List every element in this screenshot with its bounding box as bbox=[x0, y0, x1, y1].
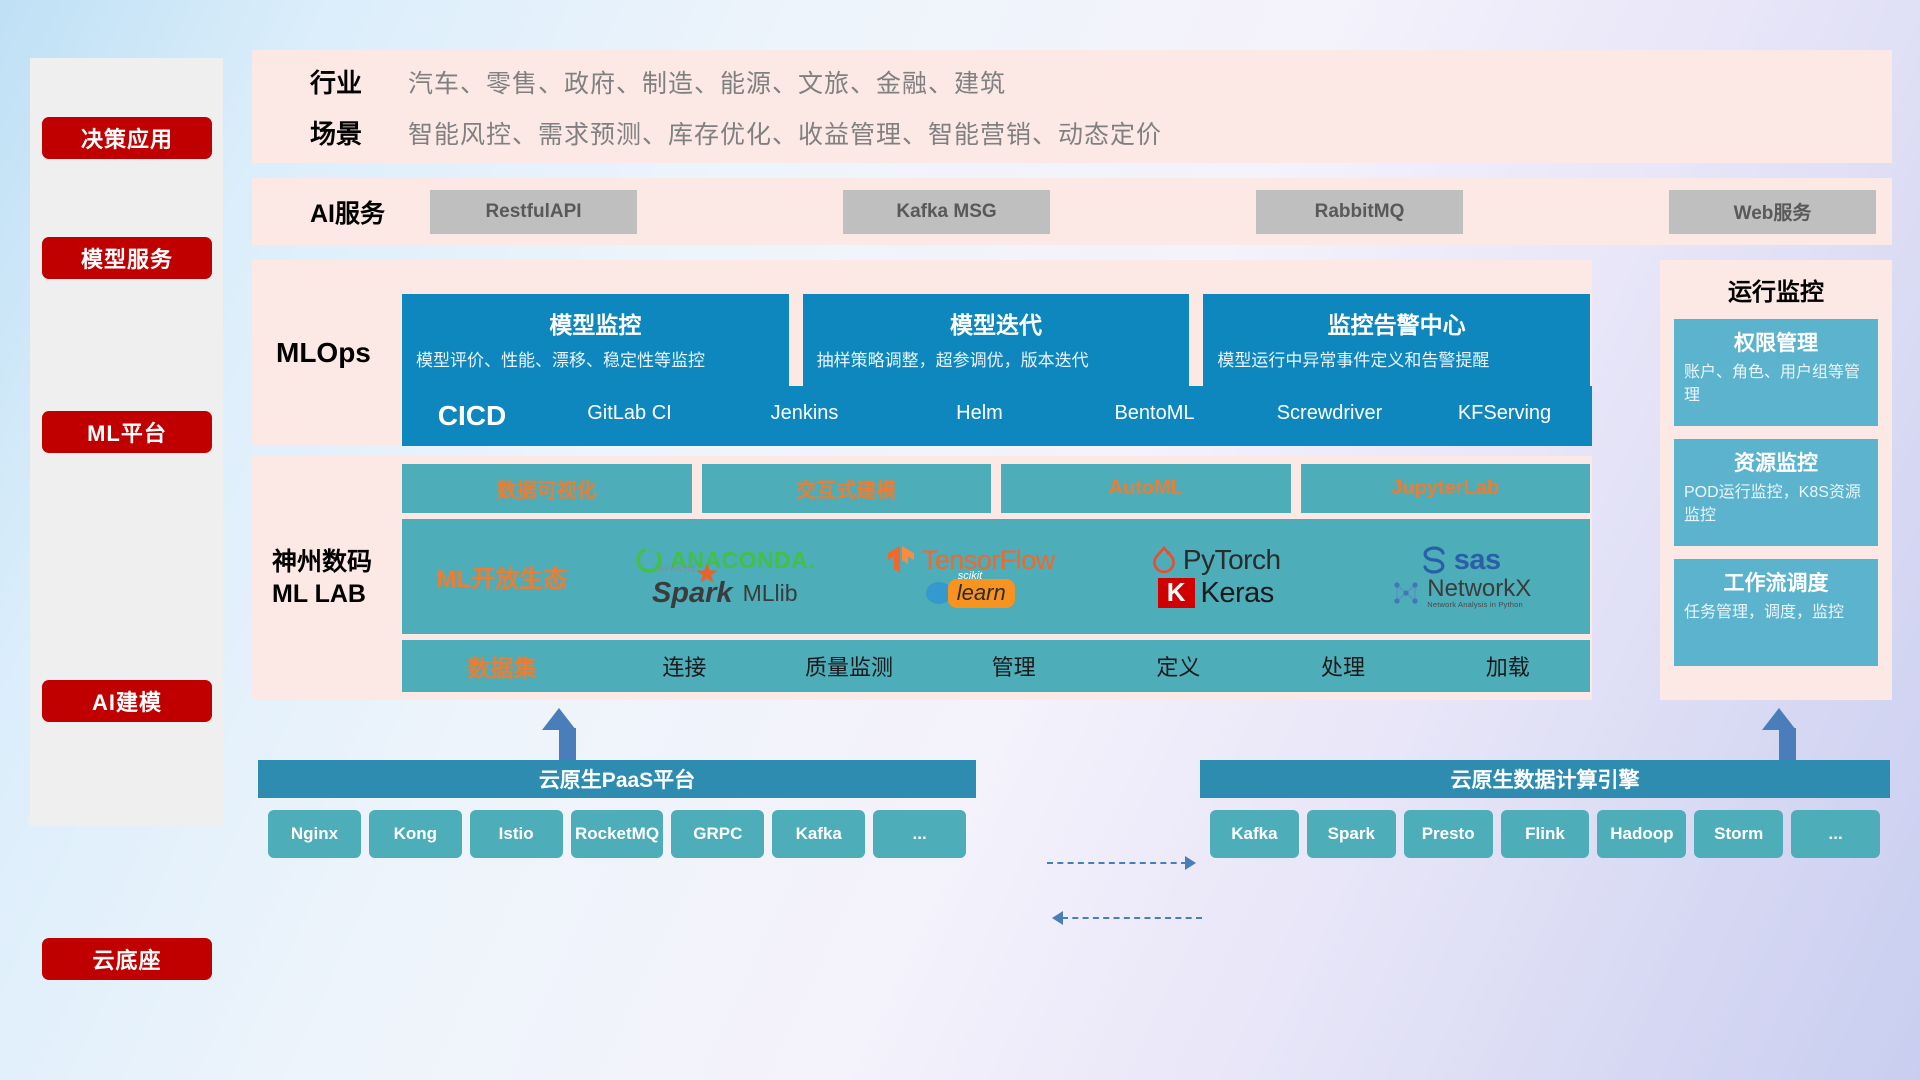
mlops-card-desc: 模型运行中异常事件定义和告警提醒 bbox=[1217, 349, 1576, 374]
pytorch-logo-text: PyTorch bbox=[1183, 544, 1281, 576]
networkx-tagline: Network Analysis in Python bbox=[1427, 601, 1531, 609]
mlops-card-desc: 模型评价、性能、漂移、稳定性等监控 bbox=[416, 349, 775, 374]
ai-service-chip-restfulapi[interactable]: RestfulAPI bbox=[430, 190, 637, 234]
engine-chip-storm[interactable]: Storm bbox=[1694, 810, 1783, 858]
spark-wordmark-text: Spark bbox=[652, 577, 733, 609]
scenario-values: 智能风控、需求预测、库存优化、收益管理、智能营销、动态定价 bbox=[408, 115, 1162, 151]
dataset-item-define[interactable]: 定义 bbox=[1096, 650, 1261, 682]
cloud-native-paas-title: 云原生PaaS平台 bbox=[258, 760, 976, 798]
layer-chip-model-service[interactable]: 模型服务 bbox=[42, 237, 212, 279]
engine-chip-spark[interactable]: Spark bbox=[1307, 810, 1396, 858]
mlops-label: MLOps bbox=[252, 337, 402, 369]
engine-chip-flink[interactable]: Flink bbox=[1501, 810, 1590, 858]
networkx-logo-text: NetworkX bbox=[1427, 577, 1531, 601]
runtime-monitoring-panel: 运行监控 权限管理 账户、角色、用户组等管理 资源监控 POD运行监控，K8S资… bbox=[1660, 260, 1892, 700]
monitor-card-desc: 任务管理，调度，监控 bbox=[1684, 602, 1868, 625]
dataset-title: 数据集 bbox=[402, 649, 602, 683]
dataset-bar: 数据集 连接 质量监测 管理 定义 处理 加载 bbox=[402, 640, 1590, 692]
cicd-item-bentoml[interactable]: BentoML bbox=[1067, 403, 1242, 429]
paas-chip-more[interactable]: ... bbox=[873, 810, 966, 858]
cloud-native-paas-group: 云原生PaaS平台 Nginx Kong Istio RocketMQ GRPC… bbox=[258, 760, 976, 870]
spark-star-icon bbox=[696, 563, 718, 584]
scikit-text: scikit bbox=[958, 570, 982, 582]
monitor-card-permission-management[interactable]: 权限管理 账户、角色、用户组等管理 bbox=[1674, 319, 1878, 426]
layer-chip-label: 云底座 bbox=[92, 943, 161, 975]
cicd-item-screwdriver[interactable]: Screwdriver bbox=[1242, 403, 1417, 429]
ml-lab-tool-list: 数据可视化 交互式建模 AutoML JupyterLab bbox=[402, 464, 1590, 513]
scenario-label: 场景 bbox=[280, 114, 408, 151]
engine-chip-hadoop[interactable]: Hadoop bbox=[1597, 810, 1686, 858]
sas-logo-text: sas bbox=[1454, 544, 1501, 577]
mlops-card-title: 监控告警中心 bbox=[1217, 306, 1576, 340]
ai-service-chip-web-service[interactable]: Web服务 bbox=[1669, 190, 1876, 234]
ai-service-chip-list: RestfulAPI Kafka MSG RabbitMQ Web服务 bbox=[430, 190, 1892, 234]
tensorflow-logo-text: TensorFlow bbox=[922, 545, 1055, 576]
networkx-logo: NetworkX Network Analysis in Python bbox=[1391, 577, 1531, 609]
cicd-item-list: GitLab CI Jenkins Helm BentoML Screwdriv… bbox=[542, 403, 1592, 429]
networkx-graph-icon bbox=[1391, 579, 1421, 607]
industry-scenario-band: 行业 汽车、零售、政府、制造、能源、文旅、金融、建筑 场景 智能风控、需求预测、… bbox=[252, 50, 1892, 163]
mlops-card-title: 模型监控 bbox=[416, 306, 775, 340]
engine-chip-kafka[interactable]: Kafka bbox=[1210, 810, 1299, 858]
cicd-item-gitlab-ci[interactable]: GitLab CI bbox=[542, 403, 717, 429]
runtime-monitoring-title: 运行监控 bbox=[1674, 272, 1878, 307]
tensorflow-mark-icon bbox=[886, 544, 916, 576]
spark-mllib-text: MLlib bbox=[743, 580, 798, 607]
cloud-native-paas-chip-list: Nginx Kong Istio RocketMQ GRPC Kafka ... bbox=[258, 798, 976, 870]
paas-chip-kafka[interactable]: Kafka bbox=[772, 810, 865, 858]
dataset-item-quality-monitor[interactable]: 质量监测 bbox=[767, 650, 932, 682]
scikit-learn-badge: scikit learn bbox=[948, 579, 1015, 608]
sas-mark-icon bbox=[1422, 546, 1448, 574]
layer-chip-cloud-base[interactable]: 云底座 bbox=[42, 938, 212, 980]
cicd-bar: CICD GitLab CI Jenkins Helm BentoML Scre… bbox=[402, 386, 1592, 446]
sas-logo: sas bbox=[1422, 544, 1501, 577]
pytorch-logo: PyTorch bbox=[1151, 544, 1281, 576]
layer-chip-label: AI建模 bbox=[92, 685, 162, 717]
ai-service-band: AI服务 RestfulAPI Kafka MSG RabbitMQ Web服务 bbox=[252, 178, 1892, 245]
pytorch-mark-icon bbox=[1151, 545, 1177, 575]
ml-open-ecosystem-logo-grid: ANACONDA. TensorFlow bbox=[602, 544, 1590, 610]
paas-chip-istio[interactable]: Istio bbox=[470, 810, 563, 858]
paas-chip-nginx[interactable]: Nginx bbox=[268, 810, 361, 858]
monitor-card-title: 资源监控 bbox=[1684, 447, 1868, 477]
layer-chip-decision-app[interactable]: 决策应用 bbox=[42, 117, 212, 159]
learn-text: learn bbox=[957, 580, 1006, 605]
cloud-native-data-engine-title: 云原生数据计算引擎 bbox=[1200, 760, 1890, 798]
ml-lab-label-line1: 神州数码 bbox=[272, 546, 402, 578]
monitor-card-title: 工作流调度 bbox=[1684, 567, 1868, 597]
scenario-row: 场景 智能风控、需求预测、库存优化、收益管理、智能营销、动态定价 bbox=[280, 114, 1892, 151]
engine-chip-presto[interactable]: Presto bbox=[1404, 810, 1493, 858]
ml-lab-tool-jupyterlab[interactable]: JupyterLab bbox=[1301, 464, 1591, 513]
monitor-card-workflow-scheduling[interactable]: 工作流调度 任务管理，调度，监控 bbox=[1674, 559, 1878, 666]
monitor-card-desc: POD运行监控，K8S资源监控 bbox=[1684, 482, 1868, 527]
ml-platform-region: MLOps 模型监控 模型评价、性能、漂移、稳定性等监控 模型迭代 抽样策略调整… bbox=[252, 260, 1592, 700]
cicd-title: CICD bbox=[402, 400, 542, 432]
industry-row: 行业 汽车、零售、政府、制造、能源、文旅、金融、建筑 bbox=[280, 63, 1892, 100]
ml-lab-tool-automl[interactable]: AutoML bbox=[1001, 464, 1291, 513]
ml-lab-label-line2: ML LAB bbox=[272, 578, 402, 610]
dataset-item-process[interactable]: 处理 bbox=[1261, 650, 1426, 682]
layer-chip-label: 决策应用 bbox=[81, 122, 173, 154]
monitor-card-desc: 账户、角色、用户组等管理 bbox=[1684, 362, 1868, 407]
layer-chip-label: 模型服务 bbox=[81, 242, 173, 274]
paas-chip-kong[interactable]: Kong bbox=[369, 810, 462, 858]
mlops-card-title: 模型迭代 bbox=[817, 306, 1176, 340]
ai-service-label: AI服务 bbox=[280, 194, 430, 230]
left-layer-rail: 决策应用 模型服务 ML平台 AI建模 云底座 bbox=[30, 58, 223, 826]
spark-apache-text: APACHE bbox=[658, 564, 698, 573]
cicd-item-kfserving[interactable]: KFServing bbox=[1417, 403, 1592, 429]
dataset-item-load[interactable]: 加载 bbox=[1425, 650, 1590, 682]
dataset-item-connect[interactable]: 连接 bbox=[602, 650, 767, 682]
cicd-item-jenkins[interactable]: Jenkins bbox=[717, 403, 892, 429]
layer-chip-label: ML平台 bbox=[87, 416, 167, 448]
cloud-native-data-engine-group: 云原生数据计算引擎 Kafka Spark Presto Flink Hadoo… bbox=[1200, 760, 1890, 870]
paas-chip-grpc[interactable]: GRPC bbox=[671, 810, 764, 858]
layer-chip-ai-modeling[interactable]: AI建模 bbox=[42, 680, 212, 722]
dataset-item-manage[interactable]: 管理 bbox=[931, 650, 1096, 682]
cloud-foundation-layer: 云原生PaaS平台 Nginx Kong Istio RocketMQ GRPC… bbox=[252, 712, 1892, 1042]
ai-service-chip-kafka-msg[interactable]: Kafka MSG bbox=[843, 190, 1050, 234]
ml-open-ecosystem-title: ML开放生态 bbox=[402, 559, 602, 594]
keras-logo: K Keras bbox=[1158, 577, 1274, 610]
scikit-learn-logo: scikit learn bbox=[926, 579, 1015, 608]
keras-mark-icon: K bbox=[1158, 578, 1195, 607]
spark-mllib-logo: APACHE Spark MLlib bbox=[652, 577, 798, 610]
cloud-native-data-engine-chip-list: Kafka Spark Presto Flink Hadoop Storm ..… bbox=[1200, 798, 1890, 870]
ml-lab-label: 神州数码 ML LAB bbox=[252, 456, 402, 700]
monitor-card-title: 权限管理 bbox=[1684, 327, 1868, 357]
cicd-item-helm[interactable]: Helm bbox=[892, 403, 1067, 429]
paas-chip-rocketmq[interactable]: RocketMQ bbox=[571, 810, 664, 858]
industry-values: 汽车、零售、政府、制造、能源、文旅、金融、建筑 bbox=[408, 64, 1006, 100]
mlops-card-desc: 抽样策略调整，超参调优，版本迭代 bbox=[817, 349, 1176, 374]
industry-label: 行业 bbox=[280, 63, 408, 100]
ml-open-ecosystem-panel: ML开放生态 ANACONDA. Ten bbox=[402, 519, 1590, 634]
keras-logo-text: Keras bbox=[1201, 577, 1274, 610]
layer-chip-ml-platform[interactable]: ML平台 bbox=[42, 411, 212, 453]
ml-lab-band: 神州数码 ML LAB 数据可视化 交互式建模 AutoML JupyterLa… bbox=[252, 456, 1592, 700]
ml-lab-tool-data-visualization[interactable]: 数据可视化 bbox=[402, 464, 692, 513]
ml-lab-tool-interactive-modeling[interactable]: 交互式建模 bbox=[702, 464, 992, 513]
ai-service-chip-rabbitmq[interactable]: RabbitMQ bbox=[1256, 190, 1463, 234]
dataset-item-list: 连接 质量监测 管理 定义 处理 加载 bbox=[602, 650, 1590, 682]
monitor-card-resource-monitoring[interactable]: 资源监控 POD运行监控，K8S资源监控 bbox=[1674, 439, 1878, 546]
engine-chip-more[interactable]: ... bbox=[1791, 810, 1880, 858]
